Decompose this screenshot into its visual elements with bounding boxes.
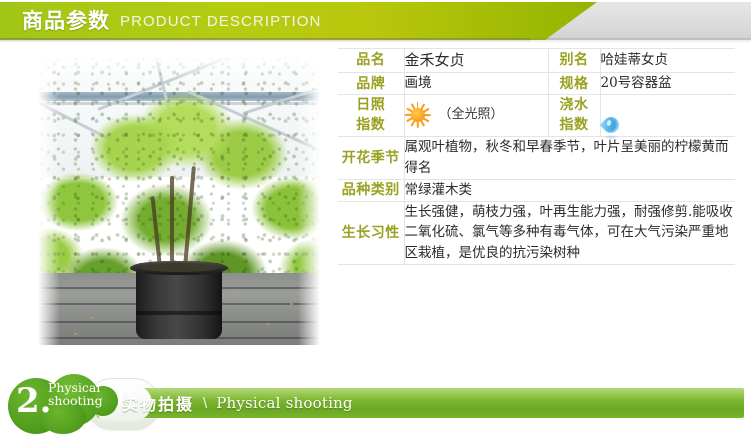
spec-value-watering [600,95,735,137]
step-badge-paren: ) [114,384,124,410]
spec-value-guige: 20号容器盆 [600,73,735,95]
photo-right-fade [298,56,320,345]
photo-left-fade [38,56,60,345]
section-header-banner: 商品参数 PRODUCT DESCRIPTION [0,2,751,40]
sun-icon [405,102,431,128]
spec-label-watering: 浇水 指数 [548,95,600,137]
step-badge-number: 2. [16,384,52,418]
spec-value-flowering: 属观叶植物，秋冬和早春季节，叶片呈美丽的柠檬黄而得名 [404,136,735,179]
spec-label-pinming: 品名 [338,49,404,73]
spec-value-sunlight: （全光照） [404,95,548,137]
spec-value-pinpai: 画境 [404,73,548,95]
spec-value-category: 常绿灌木类 [404,179,735,201]
spec-label-habit: 生长习性 [338,201,404,265]
step-badge: 2. Physical shooting ) [4,374,134,436]
table-row: 品牌 画境 规格 20号容器盆 [338,73,735,95]
page-title-en: PRODUCT DESCRIPTION [120,14,321,29]
spec-label-flowering: 开花季节 [338,136,404,179]
spec-value-bieming: 哈娃蒂女贞 [600,49,735,73]
step-badge-line2: shooting [48,394,103,408]
table-row: 品种类别 常绿灌木类 [338,179,735,201]
spec-value-habit: 生长强健，萌枝力强，叶再生能力强，耐强修剪.能吸收二氧化硫、氯气等多种有毒气体，… [404,201,735,265]
table-row: 品名 金禾女贞 别名 哈娃蒂女贞 [338,49,735,73]
section-footer-banner: 实物拍摄 \ Physical shooting 2. Physical sho… [0,374,751,436]
spec-label-category: 品种类别 [338,179,404,201]
footer-title-separator: \ [203,395,207,412]
spec-value-pinming: 金禾女贞 [404,49,548,73]
nursery-pot-base [136,311,222,315]
spec-label-pinpai: 品牌 [338,73,404,95]
footer-title-en: Physical shooting [216,394,353,412]
spec-label-sunlight: 日照 指数 [338,95,404,137]
table-row: 生长习性 生长强健，萌枝力强，叶再生能力强，耐强修剪.能吸收二氧化硫、氯气等多种… [338,201,735,265]
header-titles: 商品参数 PRODUCT DESCRIPTION [0,2,597,40]
header-underline-shadow [0,38,530,42]
table-row: 日照 指数 [338,95,735,137]
photo-top-fade [38,56,320,82]
product-spec-table: 品名 金禾女贞 别名 哈娃蒂女贞 品牌 画境 规格 20号容器盆 日照 指数 [338,48,735,265]
table-row: 开花季节 属观叶植物，秋冬和早春季节，叶片呈美丽的柠檬黄而得名 [338,136,735,179]
page-title-cn: 商品参数 [22,11,110,32]
product-description-page: 商品参数 PRODUCT DESCRIPTION [0,0,751,441]
spec-label-bieming: 别名 [548,49,600,73]
product-photo [38,56,320,345]
spec-label-guige: 规格 [548,73,600,95]
sunlight-note: （全光照） [439,105,504,125]
nursery-pot-soil [140,263,218,272]
footer-title-group: 实物拍摄 \ Physical shooting [122,388,353,418]
